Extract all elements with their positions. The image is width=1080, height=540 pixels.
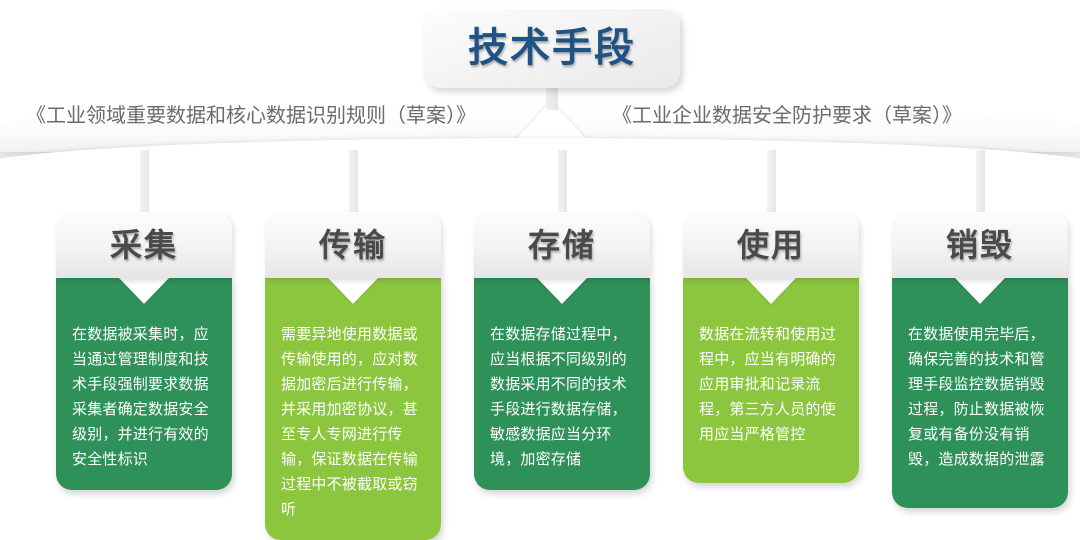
- card-notch-icon: [537, 278, 587, 304]
- card-body-1: 在数据被采集时，应当通过管理制度和技术手段强制要求数据采集者确定数据安全级别，并…: [56, 278, 232, 490]
- card-notch-icon: [119, 278, 169, 304]
- card-notch-icon: [328, 278, 378, 304]
- card-body-5: 在数据使用完毕后，确保完善的技术和管理手段监控数据销毁过程，防止数据被恢复或有备…: [892, 278, 1068, 508]
- title-stem: [546, 86, 558, 110]
- connector-line-4: [767, 150, 776, 212]
- card-body-text: 数据在流转和使用过程中，应当有明确的应用审批和记录流程，第三方人员的使用应当严格…: [699, 322, 843, 447]
- card-header-label: 传输: [319, 229, 387, 261]
- card-header-label: 使用: [737, 229, 805, 261]
- stage-card-2[interactable]: 传输需要异地使用数据或传输使用的，应对数据加密后进行传输，并采用加密协议，甚至专…: [265, 212, 441, 540]
- infographic-stage: 《工业领域重要数据和核心数据识别规则（草案）》 《工业企业数据安全防护要求（草案…: [0, 0, 1080, 522]
- card-header-label: 采集: [110, 229, 178, 261]
- subtitle-right: 《工业企业数据安全防护要求（草案）》: [612, 106, 962, 126]
- card-notch-icon: [746, 278, 796, 304]
- stage-card-4[interactable]: 使用数据在流转和使用过程中，应当有明确的应用审批和记录流程，第三方人员的使用应当…: [683, 212, 859, 483]
- connector-line-3: [558, 150, 567, 212]
- card-body-text: 需要异地使用数据或传输使用的，应对数据加密后进行传输，并采用加密协议，甚至专人专…: [281, 322, 425, 522]
- card-header-label: 存储: [528, 229, 596, 261]
- card-notch-icon: [955, 278, 1005, 304]
- stage-card-5[interactable]: 销毁在数据使用完毕后，确保完善的技术和管理手段监控数据销毁过程，防止数据被恢复或…: [892, 212, 1068, 508]
- card-body-text: 在数据被采集时，应当通过管理制度和技术手段强制要求数据采集者确定数据安全级别，并…: [72, 322, 216, 472]
- card-body-3: 在数据存储过程中，应当根据不同级别的数据采用不同的技术手段进行数据存储，敏感数据…: [474, 278, 650, 490]
- connector-line-2: [349, 150, 358, 212]
- card-body-2: 需要异地使用数据或传输使用的，应对数据加密后进行传输，并采用加密协议，甚至专人专…: [265, 278, 441, 540]
- card-body-text: 在数据存储过程中，应当根据不同级别的数据采用不同的技术手段进行数据存储，敏感数据…: [490, 322, 634, 472]
- card-header-label: 销毁: [946, 229, 1014, 261]
- card-header-3[interactable]: 存储: [474, 212, 650, 278]
- card-body-4: 数据在流转和使用过程中，应当有明确的应用审批和记录流程，第三方人员的使用应当严格…: [683, 278, 859, 483]
- card-body-text: 在数据使用完毕后，确保完善的技术和管理手段监控数据销毁过程，防止数据被恢复或有备…: [908, 322, 1052, 472]
- card-header-4[interactable]: 使用: [683, 212, 859, 278]
- card-header-1[interactable]: 采集: [56, 212, 232, 278]
- title-plaque: 技术手段: [424, 8, 680, 88]
- stage-card-3[interactable]: 存储在数据存储过程中，应当根据不同级别的数据采用不同的技术手段进行数据存储，敏感…: [474, 212, 650, 490]
- connector-line-1: [140, 150, 149, 212]
- card-header-2[interactable]: 传输: [265, 212, 441, 278]
- card-header-5[interactable]: 销毁: [892, 212, 1068, 278]
- connector-line-5: [976, 150, 985, 212]
- subtitle-left: 《工业领域重要数据和核心数据识别规则（草案）》: [26, 106, 476, 126]
- page-title: 技术手段: [468, 28, 636, 68]
- stage-card-1[interactable]: 采集在数据被采集时，应当通过管理制度和技术手段强制要求数据采集者确定数据安全级别…: [56, 212, 232, 490]
